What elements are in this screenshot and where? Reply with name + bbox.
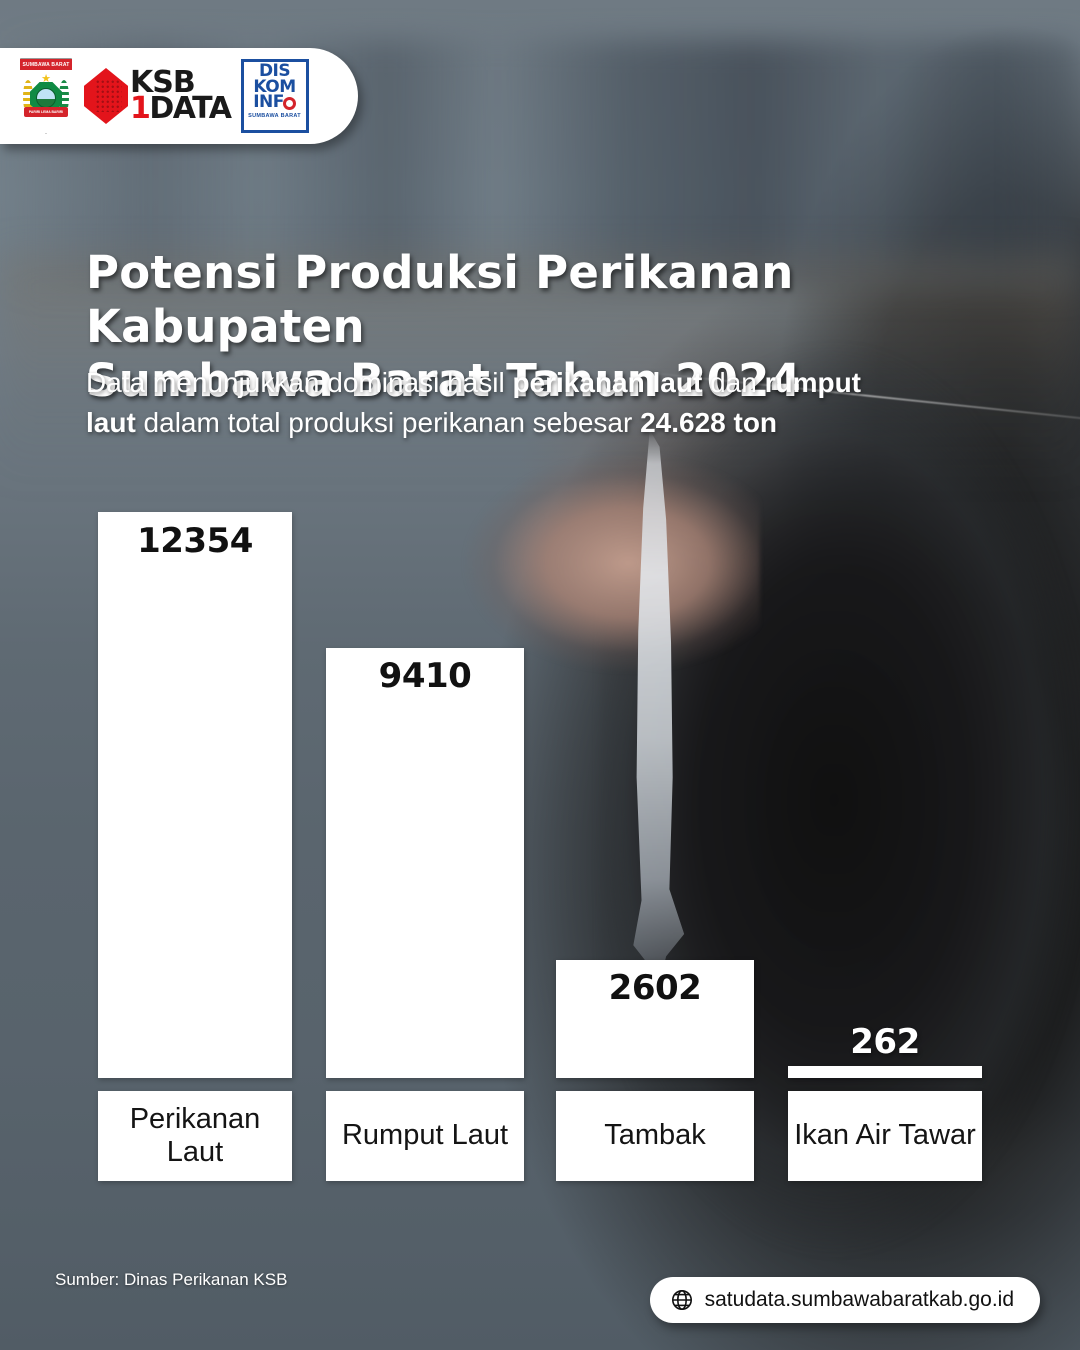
background-hand [430,455,760,695]
emblem-banner: SUMBAWA BARAT [20,59,72,70]
sumbawa-barat-emblem-icon: SUMBAWA BARAT ★ PARIRI LEMA BARIRI [18,58,74,134]
subtitle-text-2: dan [702,367,764,398]
logo-bar: SUMBAWA BARAT ★ PARIRI LEMA BARIRI KSB 1… [0,48,358,144]
ksb-data-label: 1DATA [130,96,231,122]
subtitle-text-1: Data menunjukkan dominasi hasil [86,367,512,398]
website-url-text: satudata.sumbawabaratkab.go.id [705,1288,1014,1312]
diskominfo-subtitle: SUMBAWA BARAT [248,113,301,119]
subtitle-highlight-3: 24.628 ton [640,407,777,438]
source-note: Sumber: Dinas Perikanan KSB [55,1270,287,1290]
ksb-diamond-icon [84,68,128,124]
emblem-banner-text: SUMBAWA BARAT [22,62,69,68]
website-url-pill[interactable]: satudata.sumbawabaratkab.go.id [650,1277,1040,1323]
title-line-1: Potensi Produksi Perikanan Kabupaten [86,246,1006,354]
emblem-ribbon: PARIRI LEMA BARIRI [24,107,68,117]
ksb-data-word: DATA [149,96,230,122]
subtitle-text-3: dalam total produksi perikanan sebesar [136,407,640,438]
ksb-satu-data-logo: KSB 1DATA [84,68,231,124]
ksb-wordmark: KSB 1DATA [130,70,231,122]
diskominfo-ring-icon [283,97,296,110]
emblem-ribbon-text: PARIRI LEMA BARIRI [29,110,63,114]
infographic-canvas: SUMBAWA BARAT ★ PARIRI LEMA BARIRI KSB 1… [0,0,1080,1350]
page-subtitle: Data menunjukkan dominasi hasil perikana… [86,363,876,443]
diskominfo-logo: DIS KOM INF SUMBAWA BARAT [241,59,309,133]
emblem-inner-seal [36,88,56,108]
globe-icon [670,1288,694,1312]
ksb-one-digit: 1 [130,96,149,122]
diskominfo-inf: INF [253,95,284,111]
diskominfo-info: INF [253,95,296,111]
subtitle-highlight-1: perikanan laut [512,367,702,398]
